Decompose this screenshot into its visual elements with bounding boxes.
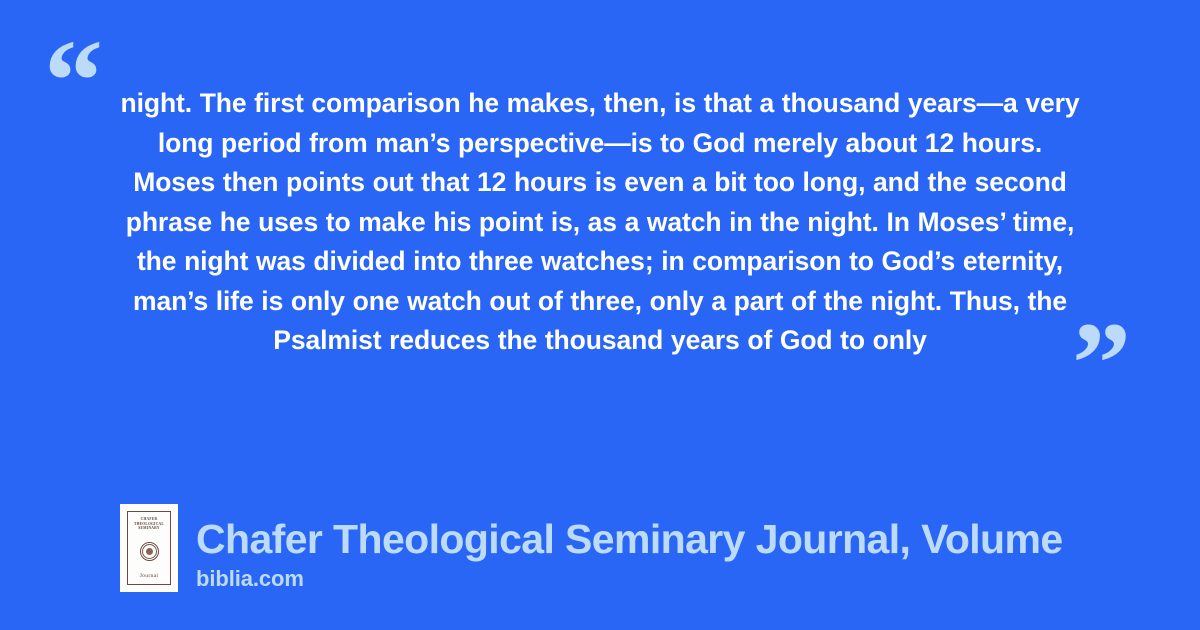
quote-card: “ night. The first comparison he makes, … xyxy=(0,0,1200,630)
quote-text: night. The first comparison he makes, th… xyxy=(120,84,1080,361)
attribution-text-group: Chafer Theological Seminary Journal, Vol… xyxy=(196,515,1190,592)
seal-emblem-icon xyxy=(140,542,159,561)
book-cover-frame: Chafer Theological Seminary Journal xyxy=(127,511,171,585)
source-title: Chafer Theological Seminary Journal, Vol… xyxy=(196,515,1190,563)
open-quote-icon: “ xyxy=(44,22,101,140)
book-cover-title: Chafer Theological Seminary xyxy=(130,517,168,531)
book-cover-thumbnail: Chafer Theological Seminary Journal xyxy=(120,504,178,592)
quote-section: “ night. The first comparison he makes, … xyxy=(0,0,1200,430)
book-cover-label: Journal xyxy=(140,573,159,579)
close-quote-icon: ” xyxy=(1072,305,1129,423)
attribution-footer: Chafer Theological Seminary Journal Chaf… xyxy=(120,504,1190,592)
source-site-link[interactable]: biblia.com xyxy=(196,565,1190,592)
